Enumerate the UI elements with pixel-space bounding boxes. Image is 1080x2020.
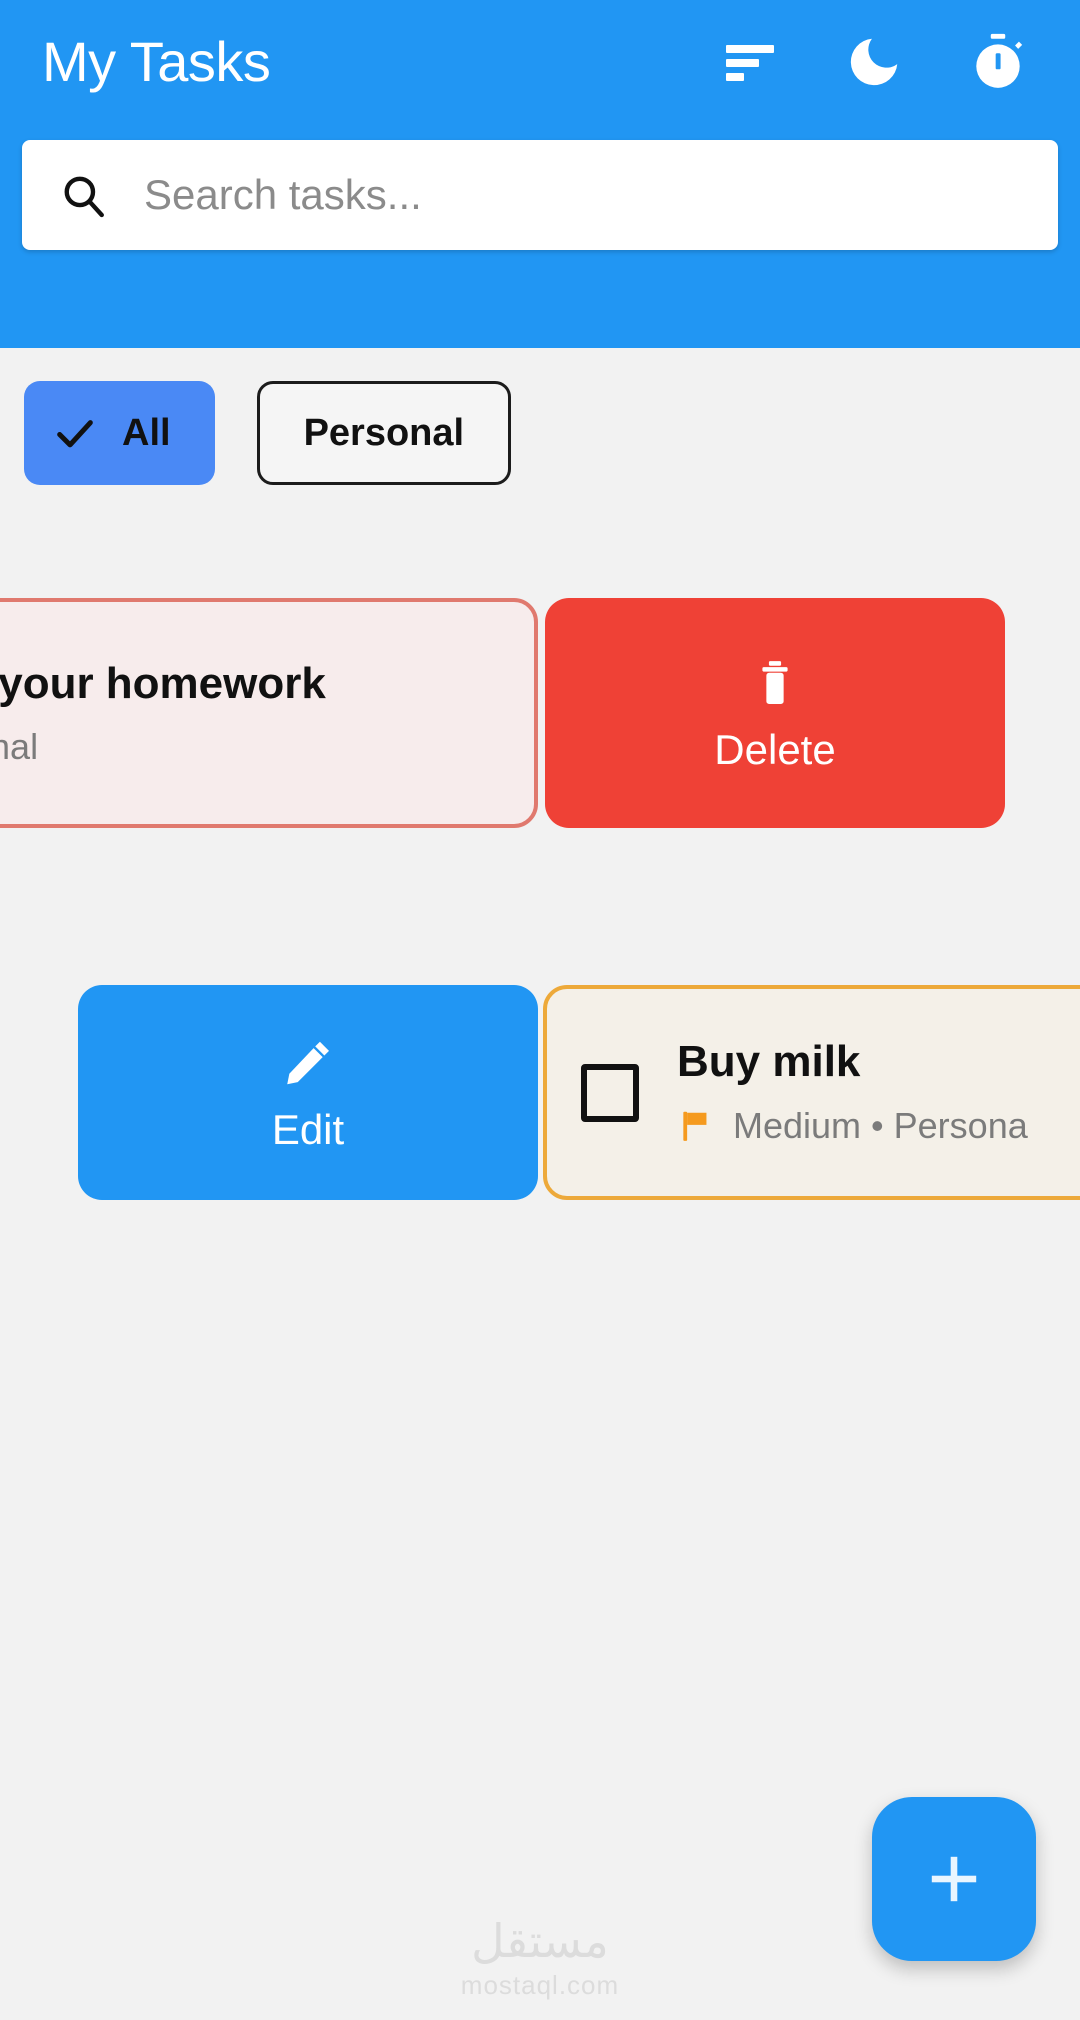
filter-chip-all[interactable]: All xyxy=(24,381,215,485)
timer-icon xyxy=(967,31,1029,93)
task-meta: ersonal xyxy=(0,726,326,767)
task-card-text: Buy milk Medium • Persona xyxy=(677,1037,1028,1148)
delete-action-button[interactable]: Delete xyxy=(545,598,1005,828)
pencil-icon xyxy=(280,1035,336,1091)
watermark-arabic: مستقل xyxy=(471,1918,609,1964)
app-bar: My Tasks xyxy=(0,0,1080,348)
app-bar-actions xyxy=(718,30,1030,94)
edit-action-button[interactable]: Edit xyxy=(78,985,538,1200)
search-input[interactable] xyxy=(144,160,1004,230)
filter-chip-personal[interactable]: Personal xyxy=(257,381,512,485)
plus-icon xyxy=(918,1843,990,1915)
search-bar[interactable] xyxy=(22,140,1058,250)
app-screen: My Tasks xyxy=(0,0,1080,2020)
task-card-buy-milk[interactable]: Buy milk Medium • Persona xyxy=(543,985,1080,1200)
task-title: get your homework xyxy=(0,659,326,710)
sort-icon xyxy=(726,41,774,83)
task-row: get your homework ersonal Delete xyxy=(0,598,1080,828)
app-bar-top: My Tasks xyxy=(0,0,1080,124)
task-card-homework[interactable]: get your homework ersonal xyxy=(0,598,538,828)
filter-chip-all-label: All xyxy=(122,412,171,455)
task-meta-label: Medium • Persona xyxy=(733,1105,1028,1146)
sort-button[interactable] xyxy=(718,30,782,94)
trash-icon xyxy=(747,655,803,711)
search-icon xyxy=(58,170,108,220)
timer-button[interactable] xyxy=(966,30,1030,94)
check-icon xyxy=(52,410,98,456)
task-title: Buy milk xyxy=(677,1037,1028,1088)
task-meta: Medium • Persona xyxy=(677,1104,1028,1148)
task-card-text: get your homework ersonal xyxy=(0,659,326,767)
watermark-latin: mostaql.com xyxy=(461,1972,619,1998)
page-title: My Tasks xyxy=(42,34,270,90)
task-meta-label: ersonal xyxy=(0,726,38,767)
delete-action-label: Delete xyxy=(714,729,835,771)
edit-action-label: Edit xyxy=(272,1109,344,1151)
filter-chip-personal-label: Personal xyxy=(304,412,465,455)
filter-chip-row: All Personal xyxy=(0,378,1080,488)
task-row: Edit Buy milk Medium • Persona xyxy=(0,985,1080,1200)
task-checkbox[interactable] xyxy=(581,1064,639,1122)
flag-icon xyxy=(677,1104,715,1148)
moon-icon xyxy=(843,31,905,93)
add-task-fab[interactable] xyxy=(872,1797,1036,1961)
dark-mode-button[interactable] xyxy=(842,30,906,94)
